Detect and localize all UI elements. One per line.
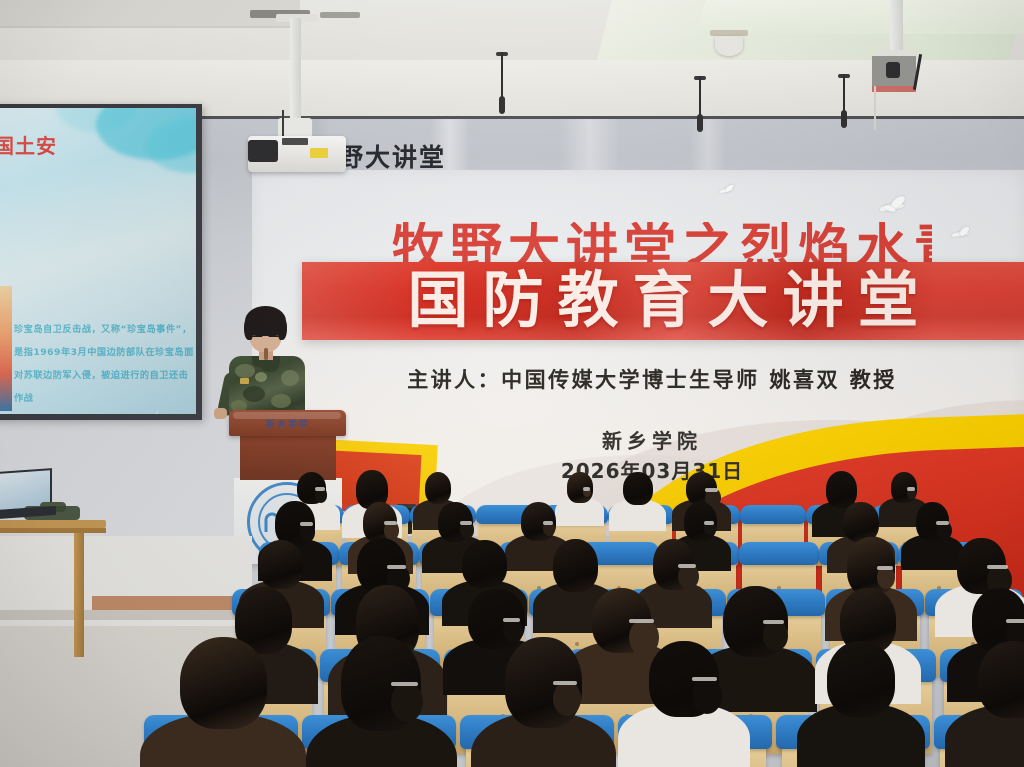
hair-tie [678,564,695,568]
side-table-edge [0,528,106,533]
ceiling-strip-light-secondary [694,0,1024,34]
hair-tie [543,521,553,525]
projection-screen-glare [0,108,196,414]
hair-tie [391,682,418,686]
backdrop-ghost-title-text: 牧野大讲堂之烈焰水青山 [392,222,932,266]
audience-head [425,472,452,505]
hair-tie [987,565,1008,569]
hair-tie [705,488,718,492]
camera-base-strip [872,86,916,92]
lecture-hall-photo: 野大讲堂 牧野大讲堂之烈焰水青山 国防教育大讲堂 主讲人：中国传媒大学博士生导师… [0,0,1024,767]
glasses-icon [268,329,280,337]
hair-tie [460,521,472,525]
audience-ponytail [391,682,423,722]
audience-head [623,472,653,506]
backdrop-ghost-title: 牧野大讲堂之烈焰水青山 [392,222,932,266]
hair-tie [763,620,784,624]
audience-ponytail [629,619,659,656]
audience-head [180,637,267,730]
hair-tie [907,487,915,491]
audience-ponytail [553,681,581,716]
audience-head [553,539,598,592]
ceiling-seam [0,26,300,28]
glasses-icon [251,329,263,337]
ceiling [0,0,1024,118]
audience-head [826,471,857,508]
camera-pole [890,0,903,56]
red-banner: 国防教育大讲堂 [302,262,1024,340]
hair-tie [553,681,577,685]
hair-tie [692,677,717,681]
dome-light-icon [715,36,743,56]
dove-icon [720,186,738,195]
speaker-badge [240,378,249,384]
hair-tie [1006,619,1024,623]
audience-head [843,502,879,542]
banner-speaker-line: 主讲人：中国传媒大学博士生导师 姚喜双 教授 [302,364,1002,394]
hair-tie [877,566,893,570]
microphone-icon [838,74,850,124]
hair-tie [300,522,313,526]
projector-pole [290,18,301,122]
glasses-bridge [263,332,268,334]
hair-tie [384,521,396,525]
speaker-hand [214,408,227,419]
side-table-leg [74,533,84,657]
camera-wire [874,86,876,130]
audience-head [462,540,507,588]
hair-tie [387,565,406,569]
projector-vent [282,138,308,145]
podium-column [240,436,336,480]
audience-head [827,641,895,717]
dove-icon [880,198,914,214]
hair-tie [583,487,590,491]
floor-edge [0,610,252,620]
hair-tie [629,619,654,623]
dove-icon [952,228,976,240]
wall-venue-title: 野大讲堂 [338,138,446,174]
banner-organization: 新乡学院 [402,425,902,454]
projector-label [310,148,328,158]
camera-lens [886,62,900,78]
handheld-microphone-icon [264,348,268,360]
hair-tie [936,521,949,525]
microphone-icon [694,76,706,128]
seat-cushion [739,542,819,564]
audience-head [259,540,304,590]
hair-tie [704,521,714,525]
seat-cushion [740,505,807,524]
banner-title: 国防教育大讲堂 [302,264,1024,338]
audience-ponytail [763,620,787,650]
hair-tie [503,618,520,622]
ceiling-fixture-mark-2 [320,12,360,18]
microphone-icon [496,52,508,112]
projector-lens [248,140,278,162]
floor-wood-strip [92,596,252,610]
audience-ponytail [692,677,722,714]
podium-desk-emblem-text: 新乡学院 [256,417,320,429]
side-table [0,520,106,528]
